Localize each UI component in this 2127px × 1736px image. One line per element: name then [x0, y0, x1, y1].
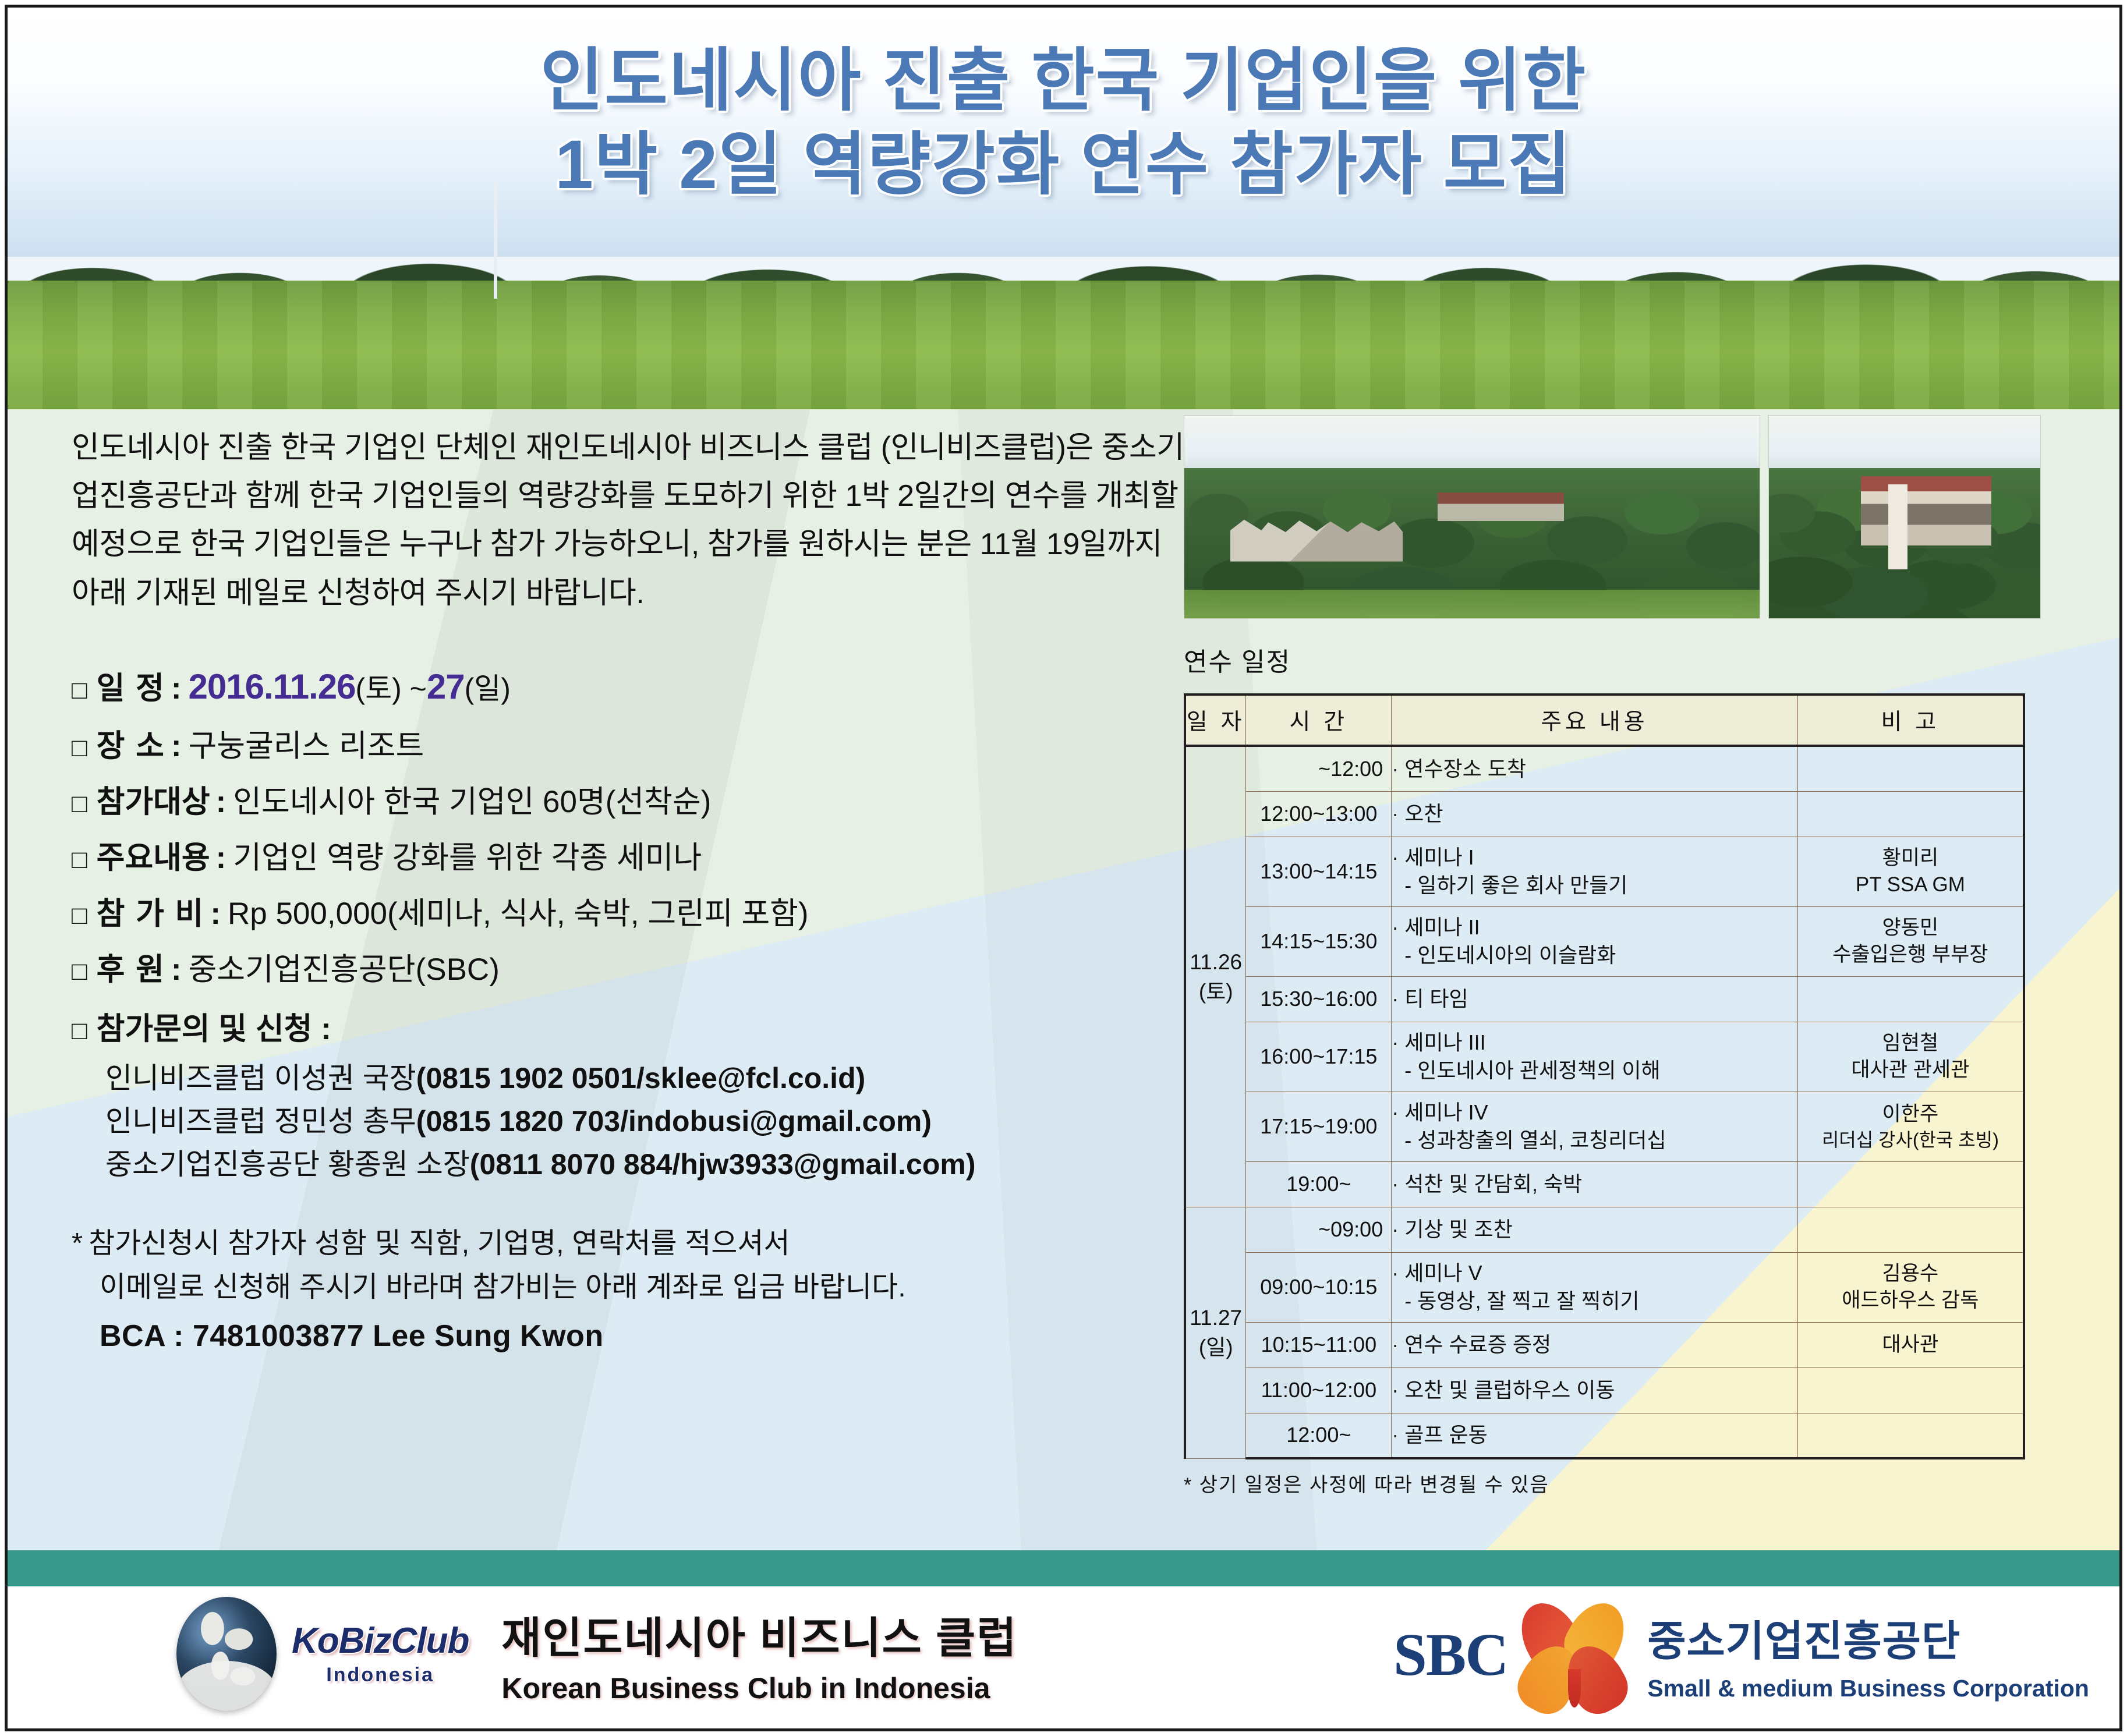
contact-item-2: 인니비즈클럽 정민성 총무(0815 1820 703/indobusi@gma…	[105, 1100, 1195, 1143]
schedule-note: 임현철 대사관 관세관	[1797, 1022, 2024, 1092]
schedule-time: 09:00~10:15	[1246, 1252, 1392, 1322]
note-line-1: 참가신청시 참가자 성함 및 직함, 기업명, 연락처를 적으셔서	[89, 1228, 790, 1259]
bullet-value-sponsor: 중소기업진흥공단(SBC)	[188, 948, 499, 991]
sbc-butterfly-icon	[1519, 1599, 1630, 1710]
table-row: 17:15~19:00 · 세미나 IV - 성과창출의 열쇠, 코칭리더십 이…	[1185, 1092, 2024, 1161]
bullet-marker-icon: □	[72, 898, 87, 934]
schedule-note: 대사관	[1797, 1322, 2024, 1367]
schedule-note: 양동민 수출입은행 부부장	[1797, 906, 2024, 976]
schedule-table: 일 자 시 간 주요 내용 비 고 11.26 (토) ~12:00	[1184, 693, 2025, 1459]
schedule-time: 15:30~16:00	[1246, 976, 1392, 1022]
resort-photo-aerial	[1184, 415, 1760, 619]
schedule-main-line2: - 일하기 좋은 회사 만들기	[1404, 871, 1797, 899]
bullet-value-fee: Rp 500,000(세미나, 식사, 숙박, 그린피 포함)	[228, 892, 809, 935]
schedule-main-line1: · 골프 운동	[1392, 1421, 1797, 1449]
schedule-date-day1: 11.26	[1186, 947, 1245, 977]
contact-item-1: 인니비즈클럽 이성권 국장(0815 1902 0501/sklee@fcl.c…	[105, 1057, 1195, 1100]
schedule-time: ~09:00	[1246, 1207, 1392, 1252]
kobizclub-names: 재인도네시아 비즈니스 클럽 Korean Business Club in I…	[501, 1603, 1017, 1705]
bullet-row-date: □ 일 정 : 2016.11.26 (토) ~ 27 (일)	[72, 663, 1195, 711]
schedule-time: 11:00~12:00	[1246, 1367, 1392, 1413]
bullet-marker-icon: □	[72, 1016, 87, 1046]
sbc-names: 중소기업진흥공단 Small & medium Business Corpora…	[1647, 1607, 2089, 1702]
schedule-body: 11.26 (토) ~12:00 · 연수장소 도착 12:00~13:00 ·…	[1185, 746, 2024, 1458]
bullet-label-audience: 참가대상	[97, 781, 210, 823]
photo-clubhouse-column	[1888, 484, 1907, 569]
bullet-colon-venue: :	[171, 725, 182, 767]
schedule-main-line1: · 세미나 IV	[1392, 1099, 1797, 1126]
schedule-note: 김용수 애드하우스 감독	[1797, 1252, 2024, 1322]
bullet-row-fee: □ 참 가 비 : Rp 500,000(세미나, 식사, 숙박, 그린피 포함…	[72, 892, 1195, 935]
schedule-main-line1: · 기상 및 조찬	[1392, 1216, 1797, 1243]
schedule-time: 19:00~	[1246, 1161, 1392, 1207]
kobizclub-logo-main: KoBizClub	[292, 1623, 469, 1659]
schedule-note-line2: 애드하우스 감독	[1798, 1287, 2023, 1314]
note-line-2: 이메일로 신청해 주시기 바라며 참가비는 아래 계좌로 입금 바랍니다.	[100, 1266, 1195, 1309]
schedule-main-line1: · 세미나 I	[1392, 844, 1797, 871]
schedule-main: · 세미나 III - 인도네시아 관세정책의 이해	[1392, 1022, 1797, 1092]
sbc-korean-name: 중소기업진흥공단	[1647, 1607, 2089, 1668]
schedule-col-main: 주요 내용	[1392, 695, 1797, 746]
right-column: 연수 일정 일 자 시 간 주요 내용 비 고 11.26 (토	[1184, 415, 2057, 1497]
schedule-main: · 티 타임	[1392, 976, 1797, 1022]
contact-name-2: 인니비즈클럽 정민성 총무	[105, 1105, 416, 1138]
schedule-note-line2: 수출입은행 부부장	[1798, 941, 2023, 968]
schedule-header-row: 일 자 시 간 주요 내용 비 고	[1185, 695, 2024, 746]
bullet-colon-content: :	[216, 837, 226, 879]
schedule-main-line1: · 세미나 III	[1392, 1029, 1797, 1057]
schedule-col-note: 비 고	[1797, 695, 2024, 746]
schedule-note: 황미리 PT SSA GM	[1797, 837, 2024, 906]
schedule-main: · 석찬 및 간담회, 숙박	[1392, 1161, 1797, 1207]
bullet-label-content: 주요내용	[97, 837, 210, 879]
sbc-logo: SBC 중소기업진흥공단 Small & medium Business Cor…	[1393, 1599, 2089, 1710]
schedule-main-line1: · 오찬	[1392, 800, 1797, 828]
schedule-col-date: 일 자	[1185, 695, 1246, 746]
photo-clubhouse	[1861, 476, 1991, 545]
sbc-english-name: Small & medium Business Corporation	[1647, 1675, 2089, 1702]
table-row: 11.27 (일) ~09:00 · 기상 및 조찬	[1185, 1207, 2024, 1252]
sbc-wordmark: SBC	[1393, 1620, 1507, 1689]
table-row: 11:00~12:00 · 오찬 및 클럽하우스 이동	[1185, 1367, 2024, 1413]
schedule-note-line2: PT SSA GM	[1798, 871, 2023, 898]
schedule-time: ~12:00	[1246, 746, 1392, 791]
schedule-date-cell-day2: 11.27 (일)	[1185, 1207, 1246, 1458]
schedule-note	[1797, 1161, 2024, 1207]
bullet-marker-icon: □	[72, 673, 87, 708]
bullet-label-fee: 참 가 비	[97, 892, 205, 935]
schedule-main-line1: · 연수 수료증 증정	[1392, 1331, 1797, 1359]
schedule-main: · 기상 및 조찬	[1392, 1207, 1797, 1252]
bullet-row-content: □ 주요내용 : 기업인 역량 강화를 위한 각종 세미나	[72, 837, 1195, 879]
event-date-end: 27	[427, 663, 465, 711]
table-row: 09:00~10:15 · 세미나 V - 동영상, 잘 찍고 잘 찍히기 김용…	[1185, 1252, 2024, 1322]
bullet-row-sponsor: □ 후 원 : 중소기업진흥공단(SBC)	[72, 948, 1195, 991]
schedule-time: 17:15~19:00	[1246, 1092, 1392, 1161]
schedule-main-line1: · 세미나 V	[1392, 1259, 1797, 1287]
title-line-2: 1박 2일 역량강화 연수 참가자 모집	[8, 123, 2119, 207]
intro-paragraph: 인도네시아 진출 한국 기업인 단체인 재인도네시아 비즈니스 클럽 (인니비즈…	[72, 424, 1195, 618]
event-date-end-dow: (일)	[465, 669, 511, 709]
schedule-time: 16:00~17:15	[1246, 1022, 1392, 1092]
kobizclub-korean-name: 재인도네시아 비즈니스 클럽	[501, 1603, 1017, 1666]
contact-heading-label: 참가문의 및 신청 :	[97, 1004, 331, 1048]
footer: KoBizClub Indonesia 재인도네시아 비즈니스 클럽 Korea…	[8, 1586, 2119, 1726]
bullet-value-content: 기업인 역량 강화를 위한 각종 세미나	[233, 837, 702, 879]
title-line-1: 인도네시아 진출 한국 기업인을 위한	[8, 40, 2119, 123]
schedule-note	[1797, 791, 2024, 837]
kobizclub-wordmark: KoBizClub Indonesia	[292, 1623, 469, 1685]
header-banner: 인도네시아 진출 한국 기업인을 위한 1박 2일 역량강화 연수 참가자 모집	[8, 8, 2119, 409]
schedule-time: 12:00~13:00	[1246, 791, 1392, 837]
schedule-dow-day1: (토)	[1186, 977, 1245, 1007]
schedule-note-line1: 임현철	[1798, 1030, 2023, 1057]
contact-detail-3: (0811 8070 884/hjw3933@gmail.com)	[470, 1148, 976, 1181]
schedule-main-line2: - 성과창출의 열쇠, 코칭리더십	[1404, 1126, 1797, 1154]
schedule-main: · 세미나 V - 동영상, 잘 찍고 잘 찍히기	[1392, 1252, 1797, 1322]
application-note: *참가신청시 참가자 성함 및 직함, 기업명, 연락처를 적으셔서 이메일로 …	[72, 1222, 1195, 1359]
poster-title: 인도네시아 진출 한국 기업인을 위한 1박 2일 역량강화 연수 참가자 모집	[8, 40, 2119, 207]
bullet-row-venue: □ 장 소 : 구눙굴리스 리조트	[72, 725, 1195, 767]
bullet-row-audience: □ 참가대상 : 인도네시아 한국 기업인 60명(선착순)	[72, 781, 1195, 823]
schedule-main-line1: · 티 타임	[1392, 985, 1797, 1013]
bullet-colon-sponsor: :	[171, 948, 182, 991]
table-row: 19:00~ · 석찬 및 간담회, 숙박	[1185, 1161, 2024, 1207]
schedule-main-line2: - 동영상, 잘 찍고 잘 찍히기	[1404, 1287, 1797, 1315]
schedule-main-line1: · 오찬 및 클럽하우스 이동	[1392, 1376, 1797, 1404]
photo-lodge	[1438, 493, 1564, 521]
schedule-main-line1: · 연수장소 도착	[1392, 755, 1797, 783]
schedule-date-day2: 11.27	[1186, 1303, 1245, 1333]
schedule-main: · 세미나 IV - 성과창출의 열쇠, 코칭리더십	[1392, 1092, 1797, 1161]
schedule-main: · 골프 운동	[1392, 1413, 1797, 1458]
kobizclub-logo: KoBizClub Indonesia 재인도네시아 비즈니스 클럽 Korea…	[176, 1597, 1017, 1711]
schedule-note-line1: 황미리	[1798, 845, 2023, 871]
schedule-note-line1: 대사관	[1798, 1331, 2023, 1358]
schedule-col-time: 시 간	[1246, 695, 1392, 746]
schedule-main-line1: · 석찬 및 간담회, 숙박	[1392, 1170, 1797, 1198]
schedule-main: · 연수 수료증 증정	[1392, 1322, 1797, 1367]
schedule-main: · 연수장소 도착	[1392, 746, 1797, 791]
contact-name-1: 인니비즈클럽 이성권 국장	[105, 1062, 416, 1094]
schedule-time: 13:00~14:15	[1246, 837, 1392, 906]
schedule-note	[1797, 746, 2024, 791]
bullet-list: □ 일 정 : 2016.11.26 (토) ~ 27 (일) □ 장 소 : …	[72, 663, 1195, 1186]
table-row: 15:30~16:00 · 티 타임	[1185, 976, 2024, 1022]
resort-photo-building	[1768, 415, 2041, 619]
schedule-note	[1797, 1413, 2024, 1458]
banner-golf-fairway	[8, 281, 2119, 409]
table-row: 10:15~11:00 · 연수 수료증 증정 대사관	[1185, 1322, 2024, 1367]
table-row: 12:00~13:00 · 오찬	[1185, 791, 2024, 837]
schedule-main-line2: - 인도네시아 관세정책의 이해	[1404, 1057, 1797, 1085]
globe-icon	[176, 1597, 277, 1711]
bullet-marker-icon: □	[72, 954, 87, 990]
bullet-label-venue: 장 소	[97, 725, 165, 767]
contact-detail-1: (0815 1902 0501/sklee@fcl.co.id)	[416, 1062, 865, 1094]
table-row: 14:15~15:30 · 세미나 II - 인도네시아의 이슬람화 양동민 수…	[1185, 906, 2024, 976]
schedule-time: 14:15~15:30	[1246, 906, 1392, 976]
bullet-label-date: 일 정	[97, 667, 165, 710]
main-content: 인도네시아 진출 한국 기업인 단체인 재인도네시아 비즈니스 클럽 (인니비즈…	[8, 409, 2119, 1550]
bullet-label-sponsor: 후 원	[97, 948, 165, 991]
schedule-note-line2: 대사관 관세관	[1798, 1057, 2023, 1083]
schedule-note-line2: 리더십 강사(한국 초빙)	[1798, 1128, 2023, 1152]
schedule-note-line1: 양동민	[1798, 915, 2023, 941]
bullet-marker-icon: □	[72, 842, 87, 878]
table-row: 16:00~17:15 · 세미나 III - 인도네시아 관세정책의 이해 임…	[1185, 1022, 2024, 1092]
event-date-start: 2016.11.26	[188, 663, 355, 711]
table-row: 11.26 (토) ~12:00 · 연수장소 도착	[1185, 746, 2024, 791]
contact-detail-2: (0815 1820 703/indobusi@gmail.com)	[416, 1105, 932, 1138]
schedule-main: · 오찬	[1392, 791, 1797, 837]
contact-heading: □ 참가문의 및 신청 :	[72, 1004, 1195, 1048]
bullet-marker-icon: □	[72, 786, 87, 822]
schedule-note	[1797, 976, 2024, 1022]
kobizclub-logo-sub: Indonesia	[292, 1665, 469, 1685]
schedule-label: 연수 일정	[1184, 641, 2057, 678]
table-row: 12:00~ · 골프 운동	[1185, 1413, 2024, 1458]
schedule-main-line2: - 인도네시아의 이슬람화	[1404, 941, 1797, 969]
table-row: 13:00~14:15 · 세미나 I - 일하기 좋은 회사 만들기 황미리 …	[1185, 837, 2024, 906]
poster-root: 인도네시아 진출 한국 기업인을 위한 1박 2일 역량강화 연수 참가자 모집…	[0, 0, 2127, 1736]
schedule-main: · 세미나 I - 일하기 좋은 회사 만들기	[1392, 837, 1797, 906]
schedule-time: 12:00~	[1246, 1413, 1392, 1458]
bullet-colon-date: :	[171, 667, 182, 710]
schedule-note	[1797, 1367, 2024, 1413]
schedule-footnote: * 상기 일정은 사정에 따라 변경될 수 있음	[1184, 1469, 2057, 1497]
bullet-colon-audience: :	[216, 781, 226, 823]
bullet-value-audience: 인도네시아 한국 기업인 60명(선착순)	[233, 781, 711, 823]
schedule-time: 10:15~11:00	[1246, 1322, 1392, 1367]
schedule-main: · 세미나 II - 인도네시아의 이슬람화	[1392, 906, 1797, 976]
contact-name-3: 중소기업진흥공단 황종원 소장	[105, 1148, 470, 1181]
left-column: 인도네시아 진출 한국 기업인 단체인 재인도네시아 비즈니스 클럽 (인니비즈…	[72, 424, 1195, 1359]
schedule-main-line1: · 세미나 II	[1392, 913, 1797, 941]
footer-divider-bar	[8, 1550, 2119, 1586]
bullet-colon-fee: :	[210, 892, 221, 935]
schedule-note	[1797, 1207, 2024, 1252]
schedule-note-line1: 이한주	[1798, 1101, 2023, 1128]
kobizclub-english-name: Korean Business Club in Indonesia	[501, 1671, 1017, 1705]
schedule-note: 이한주 리더십 강사(한국 초빙)	[1797, 1092, 2024, 1161]
schedule-main: · 오찬 및 클럽하우스 이동	[1392, 1367, 1797, 1413]
schedule-dow-day2: (일)	[1186, 1333, 1245, 1362]
contact-item-3: 중소기업진흥공단 황종원 소장(0811 8070 884/hjw3933@gm…	[105, 1143, 1195, 1186]
photo-lawn	[1184, 590, 1760, 618]
resort-photo-group	[1184, 415, 2057, 619]
schedule-date-cell-day1: 11.26 (토)	[1185, 746, 1246, 1207]
bullet-value-venue: 구눙굴리스 리조트	[188, 725, 424, 767]
event-date-start-dow: (토) ~	[355, 669, 426, 709]
note-star-icon: *	[72, 1228, 83, 1259]
bullet-marker-icon: □	[72, 731, 87, 766]
bank-account-line: BCA : 7481003877 Lee Sung Kwon	[100, 1313, 1195, 1359]
schedule-note-line1: 김용수	[1798, 1260, 2023, 1287]
